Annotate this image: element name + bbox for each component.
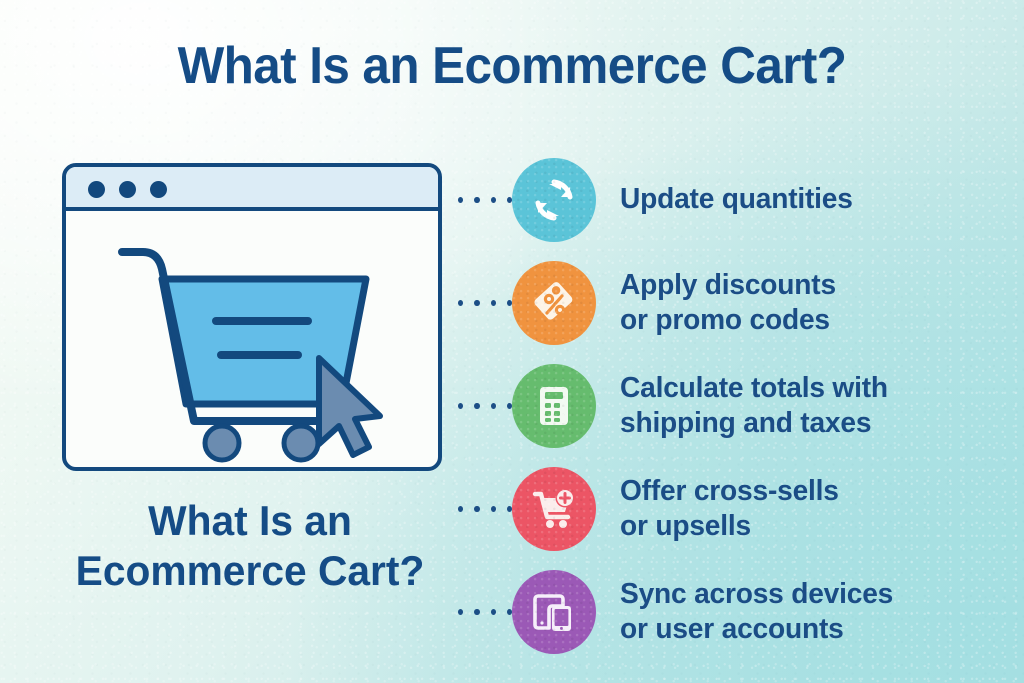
feature-label: Calculate totals with shipping and taxes [620, 371, 888, 441]
feature-row-apply-discounts: Apply discounts or promo codes [452, 251, 1024, 354]
window-dot-3-icon [150, 181, 167, 198]
dotted-connector [452, 300, 512, 306]
feature-line: Update quantities [620, 182, 853, 217]
feature-icon-badge [512, 467, 596, 551]
feature-icon-badge [512, 261, 596, 345]
caption-line-1: What Is an [46, 496, 453, 546]
feature-line: or promo codes [620, 303, 836, 338]
feature-row-sync-across-devices: Sync across devices or user accounts [452, 560, 1024, 663]
feature-line: or upsells [620, 509, 839, 544]
caption-line-2: Ecommerce Cart? [46, 546, 453, 596]
dotted-connector [452, 506, 512, 512]
browser-window-illustration [62, 163, 442, 471]
feature-icon-badge [512, 570, 596, 654]
feature-icon-badge [512, 158, 596, 242]
feature-label: Apply discounts or promo codes [620, 268, 836, 338]
feature-icon-badge [512, 364, 596, 448]
feature-row-update-quantities: Update quantities [452, 148, 1024, 251]
feature-label: Offer cross-sells or upsells [620, 474, 839, 544]
feature-label: Update quantities [620, 182, 853, 217]
shopping-cart-icon [66, 203, 442, 471]
feature-row-calculate-totals: Calculate totals with shipping and taxes [452, 354, 1024, 457]
feature-line: Offer cross-sells [620, 474, 839, 509]
feature-line: Apply discounts [620, 268, 836, 303]
window-dot-1-icon [88, 181, 105, 198]
dotted-connector [452, 403, 512, 409]
dotted-connector [452, 197, 512, 203]
feature-line: Calculate totals with [620, 371, 888, 406]
illustration-caption: What Is an Ecommerce Cart? [46, 496, 453, 596]
feature-list: Update quantities [452, 148, 1024, 663]
dotted-connector [452, 609, 512, 615]
feature-row-offer-cross-sells: Offer cross-sells or upsells [452, 457, 1024, 560]
window-dot-2-icon [119, 181, 136, 198]
feature-line: Sync across devices [620, 577, 893, 612]
infographic-canvas: What Is an Ecommerce Cart? What Is [0, 0, 1024, 683]
page-title: What Is an Ecommerce Cart? [26, 36, 999, 96]
feature-label: Sync across devices or user accounts [620, 577, 893, 647]
feature-line: shipping and taxes [620, 406, 888, 441]
feature-line: or user accounts [620, 612, 893, 647]
